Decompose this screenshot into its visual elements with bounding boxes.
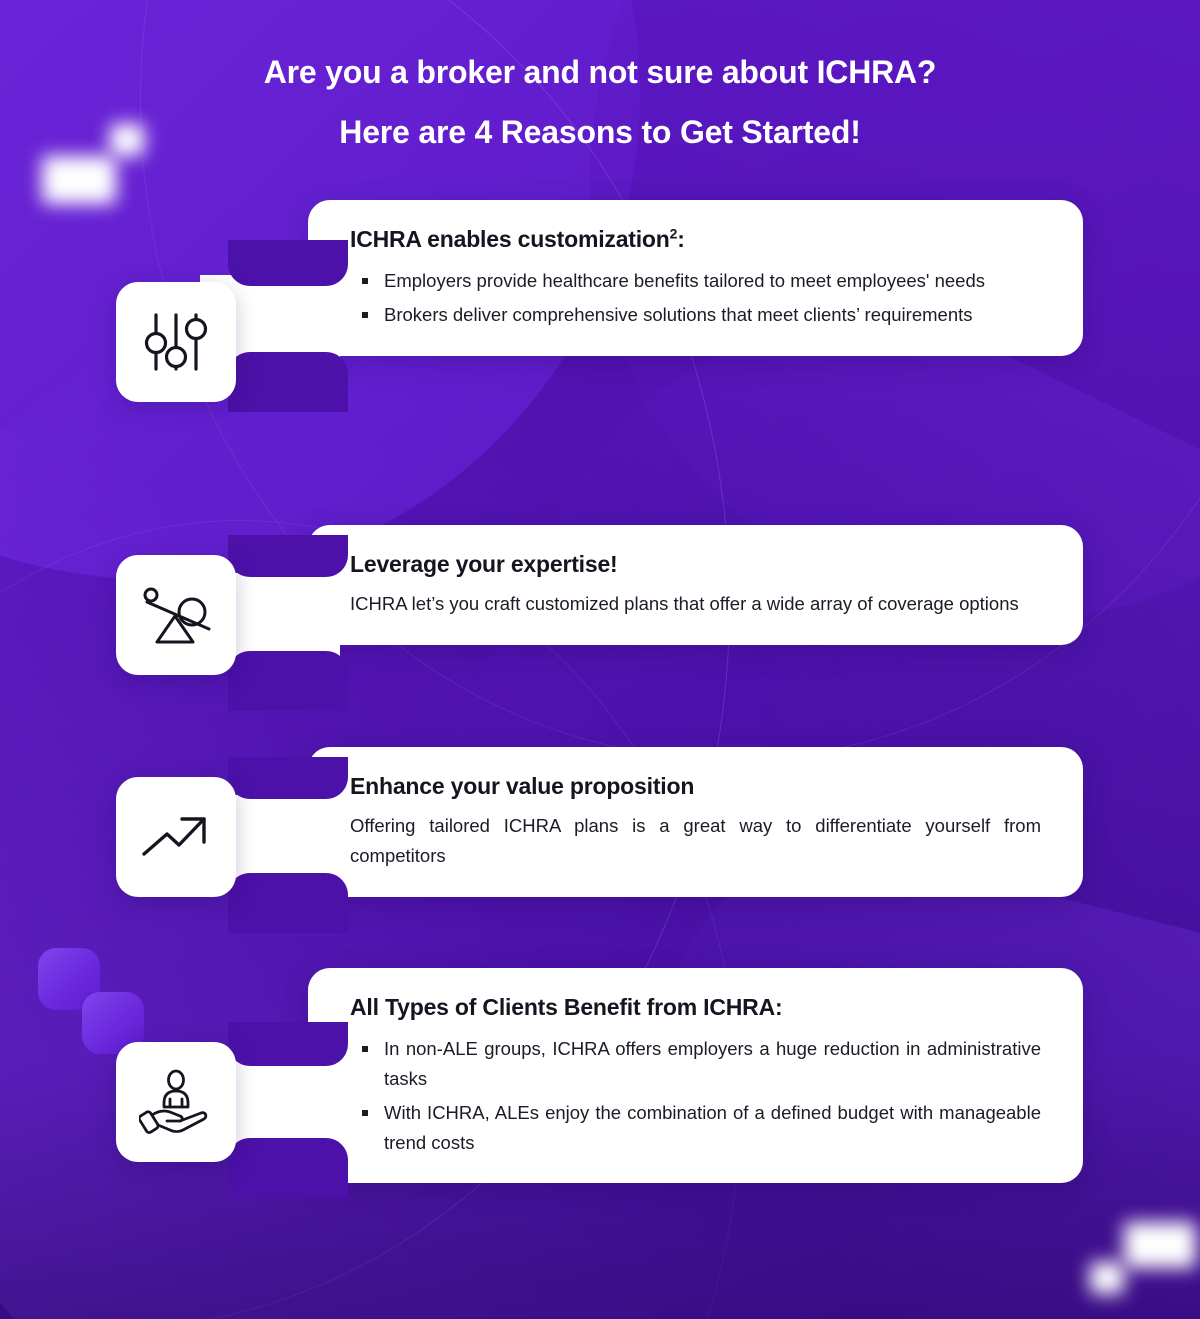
connector-notch-4-top [228,1022,348,1066]
bullet-text: Brokers deliver comprehensive solutions … [384,304,973,325]
card-title-4: All Types of Clients Benefit from ICHRA: [350,994,1041,1022]
icon-tile-1 [116,282,236,402]
list-item: With ICHRA, ALEs enjoy the combination o… [350,1098,1041,1158]
card-paragraph-2: ICHRA let’s you craft customized plans t… [350,589,1041,619]
connector-notch-3-bottom [228,873,348,933]
reason-card-3: Enhance your value proposition Offering … [308,747,1083,897]
bullet-text: With ICHRA, ALEs enjoy the combination o… [384,1102,1041,1153]
list-item: In non-ALE groups, ICHRA offers employer… [350,1034,1041,1094]
card-bullets-4: In non-ALE groups, ICHRA offers employer… [350,1034,1041,1158]
card-title-text-1: ICHRA enables customization [350,226,670,252]
card-title-2: Leverage your expertise! [350,551,1041,579]
reason-card-4: All Types of Clients Benefit from ICHRA:… [308,968,1083,1183]
connector-notch-3-top [228,757,348,799]
card-bullets-1: Employers provide healthcare benefits ta… [350,266,1041,330]
card-title-suffix-1: : [677,226,684,252]
connector-notch-2-top [228,535,348,577]
hand-holding-person-icon [139,1069,213,1135]
card-title-1: ICHRA enables customization2: [350,226,1041,254]
card-title-3: Enhance your value proposition [350,773,1041,801]
icon-tile-4 [116,1042,236,1162]
connector-notch-1-bottom [228,352,348,412]
header-line-2: Here are 4 Reasons to Get Started! [0,116,1200,148]
card-paragraph-3: Offering tailored ICHRA plans is a great… [350,811,1041,871]
icon-tile-3 [116,777,236,897]
connector-notch-4-bottom [228,1138,348,1198]
reason-card-1: ICHRA enables customization2: Employers … [308,200,1083,356]
trending-up-icon [140,812,212,862]
sliders-icon [143,311,209,373]
list-item: Brokers deliver comprehensive solutions … [350,300,1041,330]
connector-notch-2-bottom [228,651,348,711]
page-header: Are you a broker and not sure about ICHR… [0,56,1200,148]
connector-notch-1-top [228,240,348,286]
header-line-1: Are you a broker and not sure about ICHR… [0,56,1200,88]
list-item: Employers provide healthcare benefits ta… [350,266,1041,296]
lever-balance-icon [139,584,213,646]
reasons-list: ICHRA enables customization2: Employers … [0,0,1200,1319]
reason-card-2: Leverage your expertise! ICHRA let’s you… [308,525,1083,645]
bullet-text: Employers provide healthcare benefits ta… [384,270,985,291]
icon-tile-2 [116,555,236,675]
bullet-text: In non-ALE groups, ICHRA offers employer… [384,1038,1041,1089]
